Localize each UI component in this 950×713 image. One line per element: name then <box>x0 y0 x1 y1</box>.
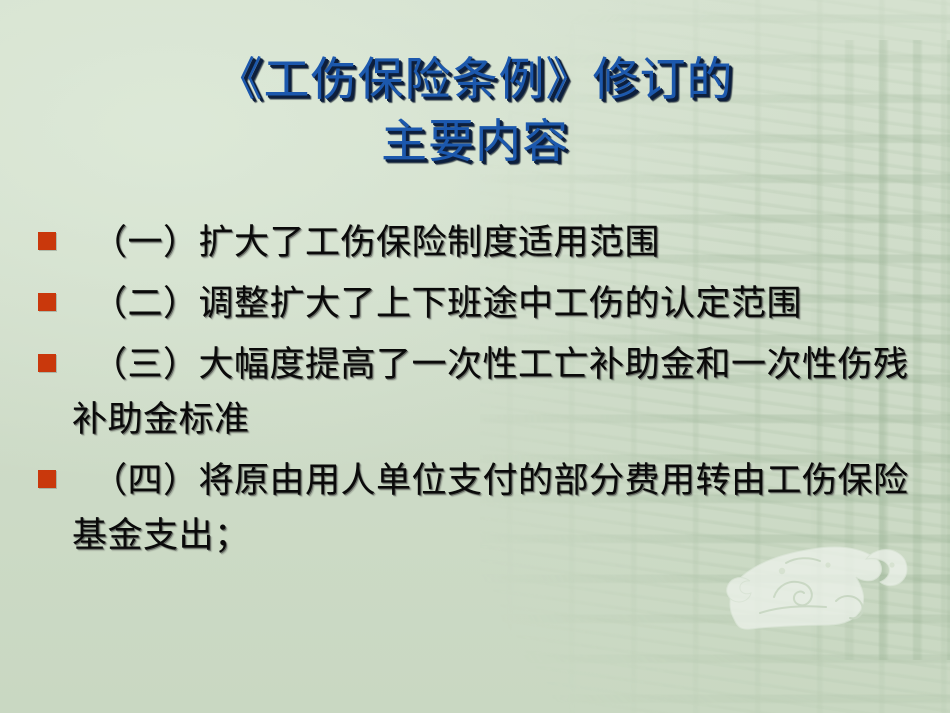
presentation-slide: 《工伤保险条例》修订的 主要内容 （一）扩大了工伤保险制度适用范围 （二）调整扩… <box>0 0 950 713</box>
list-item-label: （四）将原由用人单位支付的部分费用转由工伤保险基金支出； <box>72 454 930 564</box>
list-item: （三）大幅度提高了一次性工亡补助金和一次性伤残补助金标准 <box>30 338 930 448</box>
list-item: （四）将原由用人单位支付的部分费用转由工伤保险基金支出； <box>30 454 930 564</box>
title-line-2: 主要内容 <box>0 110 950 172</box>
list-item-label: （二）调整扩大了上下班途中工伤的认定范围 <box>72 277 930 332</box>
square-bullet-icon <box>38 293 56 311</box>
square-bullet-icon <box>38 354 56 372</box>
title-line-1: 《工伤保险条例》修订的 <box>0 48 950 110</box>
square-bullet-icon <box>38 470 56 488</box>
list-item: （二）调整扩大了上下班途中工伤的认定范围 <box>30 277 930 332</box>
list-item-label: （一）扩大了工伤保险制度适用范围 <box>72 216 930 271</box>
slide-title: 《工伤保险条例》修订的 主要内容 <box>0 48 950 172</box>
list-item: （一）扩大了工伤保险制度适用范围 <box>30 216 930 271</box>
list-item-label: （三）大幅度提高了一次性工亡补助金和一次性伤残补助金标准 <box>72 338 930 448</box>
bullet-list: （一）扩大了工伤保险制度适用范围 （二）调整扩大了上下班途中工伤的认定范围 （三… <box>30 216 930 570</box>
square-bullet-icon <box>38 232 56 250</box>
